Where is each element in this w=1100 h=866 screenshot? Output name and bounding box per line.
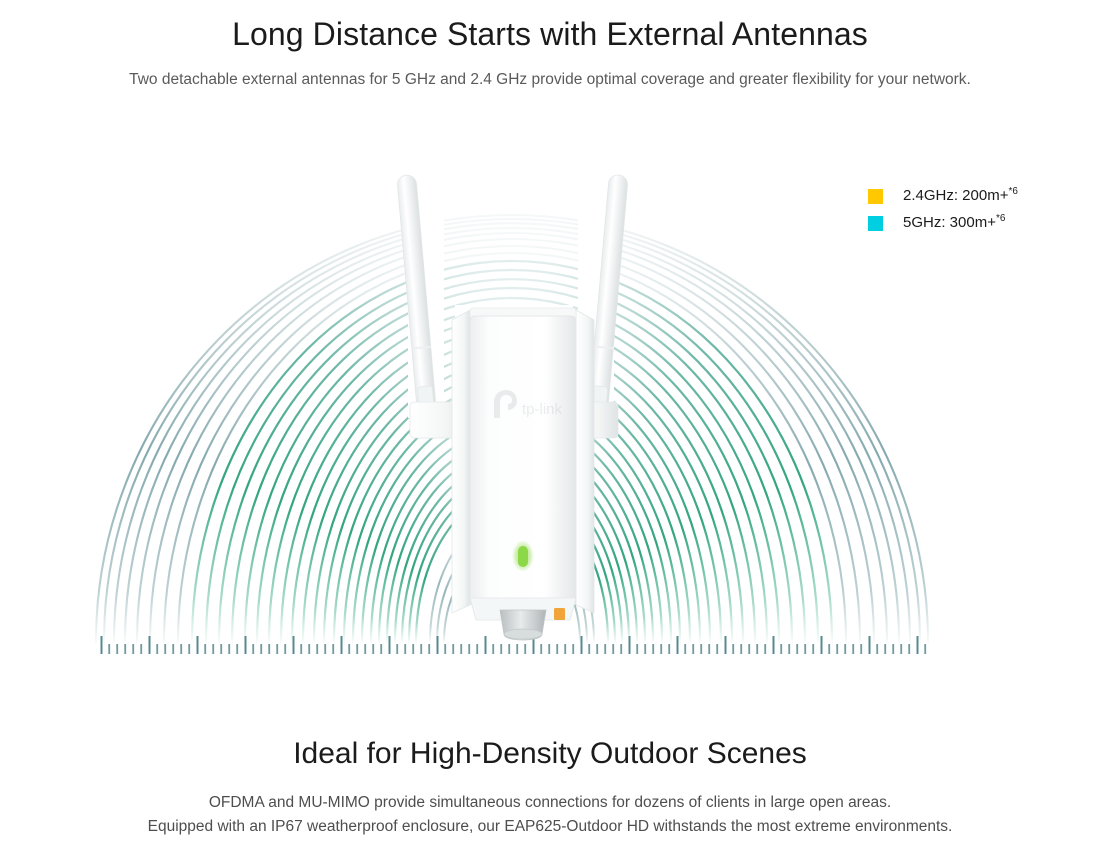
section-description: OFDMA and MU-MIMO provide simultaneous c… <box>0 791 1100 841</box>
legend-footnote-5ghz: *6 <box>996 213 1005 224</box>
bottom-text-block: Ideal for High-Density Outdoor Scenes OF… <box>0 735 1100 840</box>
legend-item-5ghz: 5GHz: 300m+*6 <box>868 213 1068 237</box>
top-text-block: Long Distance Starts with External Anten… <box>0 0 1100 91</box>
legend-label-24ghz: 2.4GHz: 200m+*6 <box>903 186 1018 206</box>
status-led-icon <box>518 546 528 567</box>
mount-fin-left <box>452 310 470 613</box>
legend-label-5ghz: 5GHz: 300m+*6 <box>903 213 1005 233</box>
coverage-legend: 2.4GHz: 200m+*6 5GHz: 300m+*6 <box>868 186 1068 240</box>
access-point-device: tp-link <box>397 174 629 640</box>
page-subtitle: Two detachable external antennas for 5 G… <box>0 69 1100 91</box>
hero-illustration: tp-link 2.4GHz: 200m+*6 <box>0 150 1100 680</box>
mount-fin-right <box>576 310 594 613</box>
description-line-2: Equipped with an IP67 weatherproof enclo… <box>0 815 1100 840</box>
legend-text-5ghz: 5GHz: 300m+ <box>903 214 996 231</box>
port-indicator-icon <box>554 608 565 620</box>
marketing-page: Long Distance Starts with External Anten… <box>0 0 1100 866</box>
antenna-right <box>589 174 628 411</box>
legend-text-24ghz: 2.4GHz: 200m+ <box>903 187 1008 204</box>
legend-swatch-5ghz <box>868 216 883 231</box>
section-title: Ideal for High-Density Outdoor Scenes <box>0 735 1100 773</box>
description-line-1: OFDMA and MU-MIMO provide simultaneous c… <box>0 791 1100 816</box>
legend-swatch-24ghz <box>868 189 883 204</box>
page-title: Long Distance Starts with External Anten… <box>0 14 1100 54</box>
legend-footnote-24ghz: *6 <box>1008 186 1017 197</box>
legend-item-24ghz: 2.4GHz: 200m+*6 <box>868 186 1068 210</box>
svg-text:tp-link: tp-link <box>522 401 563 418</box>
